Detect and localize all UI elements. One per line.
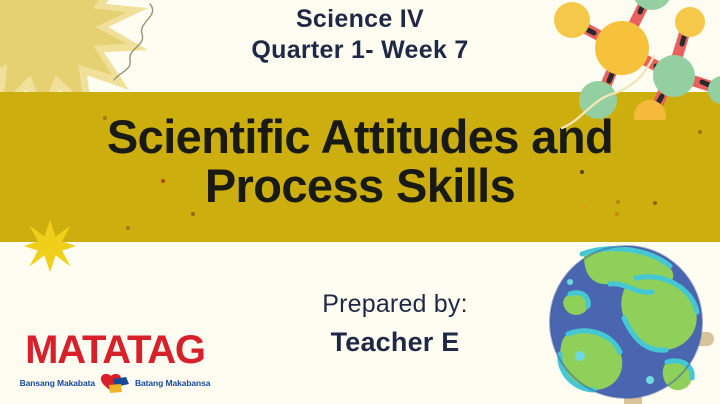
slide-header: Science IV Quarter 1- Week 7 bbox=[0, 4, 720, 66]
header-line-2: Quarter 1- Week 7 bbox=[251, 36, 468, 64]
confetti-dot bbox=[191, 212, 196, 217]
matatag-logo: MATATAG Bansang Makabata Batang Makabans… bbox=[10, 330, 220, 394]
prepared-by-name: Teacher E bbox=[250, 325, 540, 360]
confetti-dot bbox=[615, 212, 619, 216]
title-line-2: Process Skills bbox=[0, 161, 720, 210]
globe-icon bbox=[540, 238, 720, 404]
tagline-right: Batang Makabansa bbox=[135, 378, 210, 388]
matatag-wordmark: MATATAG bbox=[10, 330, 220, 370]
matatag-tagline: Bansang Makabata Batang Makabansa bbox=[10, 372, 220, 394]
slide-canvas: Science IV Quarter 1- Week 7 Scientific … bbox=[0, 0, 720, 404]
page-title: Scientific Attitudes and Process Skills bbox=[0, 112, 720, 211]
title-line-1: Scientific Attitudes and bbox=[0, 112, 720, 161]
header-line-1: Science IV bbox=[296, 5, 424, 33]
prepared-by-label: Prepared by: bbox=[250, 288, 540, 321]
prepared-by-block: Prepared by: Teacher E bbox=[250, 288, 540, 360]
heart-hands-icon bbox=[98, 372, 132, 394]
tagline-left: Bansang Makabata bbox=[20, 378, 95, 388]
confetti-dot bbox=[126, 226, 130, 230]
